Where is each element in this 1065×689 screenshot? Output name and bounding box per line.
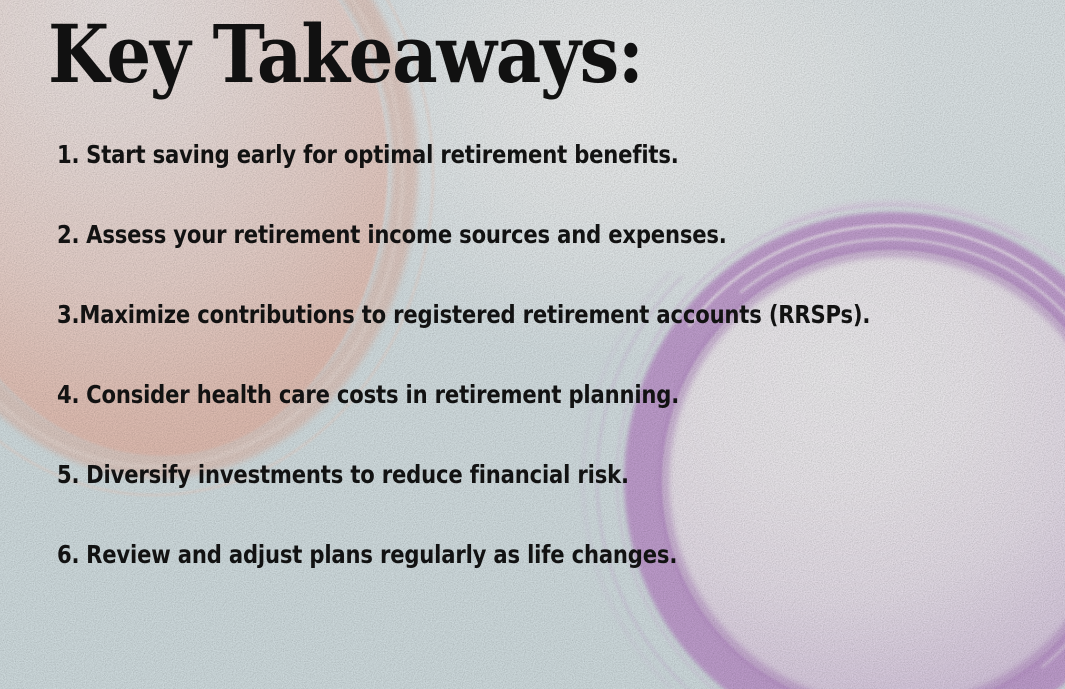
list-item: 4. Consider health care costs in retirem…	[57, 382, 818, 462]
list-item: 3. Maximize contributions to registered …	[57, 302, 818, 382]
list-item: 2. Assess your retirement income sources…	[57, 222, 818, 302]
list-item-text: Review and adjust plans regularly as lif…	[86, 542, 677, 567]
list-item-number: 3.	[57, 302, 79, 327]
list-item-number: 5.	[57, 462, 79, 487]
list-item-number: 6.	[57, 542, 79, 567]
takeaways-list: 1. Start saving early for optimal retire…	[57, 142, 957, 622]
poster-content: Key Takeaways: 1. Start saving early for…	[0, 0, 1065, 689]
list-item: 6. Review and adjust plans regularly as …	[57, 542, 818, 622]
list-item-text: Start saving early for optimal retiremen…	[86, 142, 678, 167]
list-item-number: 4.	[57, 382, 79, 407]
list-item-text: Assess your retirement income sources an…	[86, 222, 727, 247]
list-item-text: Diversify investments to reduce financia…	[86, 462, 629, 487]
list-item-text: Consider health care costs in retirement…	[86, 382, 679, 407]
list-item-number: 2.	[57, 222, 79, 247]
list-item: 5. Diversify investments to reduce finan…	[57, 462, 818, 542]
list-item-number: 1.	[57, 142, 79, 167]
key-takeaways-poster: Key Takeaways: 1. Start saving early for…	[0, 0, 1065, 689]
list-item-text: Maximize contributions to registered ret…	[79, 302, 870, 327]
page-title: Key Takeaways:	[48, 14, 643, 94]
list-item: 1. Start saving early for optimal retire…	[57, 142, 818, 222]
